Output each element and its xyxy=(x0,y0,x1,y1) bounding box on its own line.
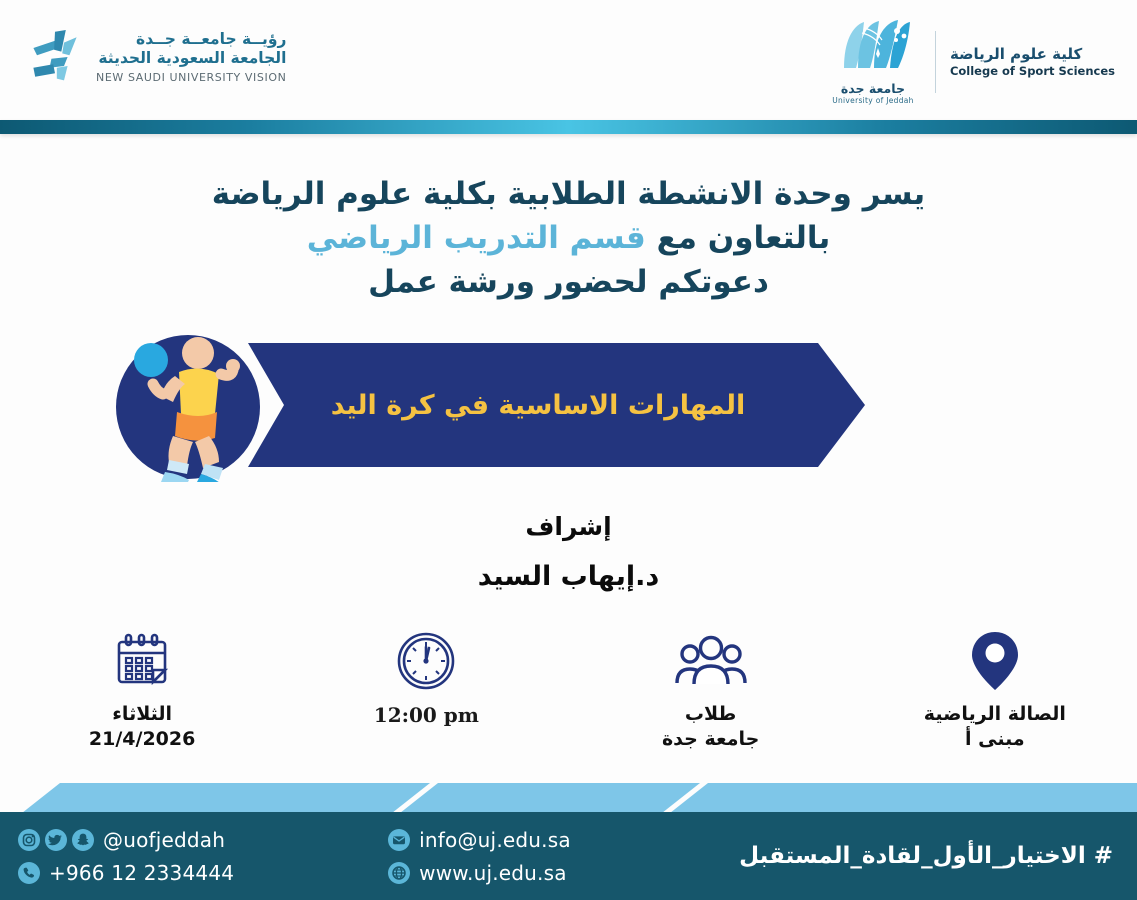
detail-item-time: 12:00 pm xyxy=(284,630,568,775)
footer-contact-column-2: info@uj.edu.sa www.uj.edu.sa xyxy=(388,828,571,885)
detail-item-audience: طلاب جامعة جدة xyxy=(569,630,853,775)
detail-item-location: الصالة الرياضية مبنى أ xyxy=(853,630,1137,775)
vision-arabic-line1: رؤيــة جامعــة جــدة xyxy=(96,30,286,49)
college-logo: كلية علوم الرياضة College of Sport Scien… xyxy=(825,18,1115,105)
calendar-icon xyxy=(113,630,171,692)
detail-time-text: 12:00 pm xyxy=(374,702,479,728)
banner-title-text: المهارات الاساسية في كرة اليد xyxy=(248,343,828,467)
heading-line-2: بالتعاون مع قسم التدريب الرياضي xyxy=(0,216,1137,260)
phone-icon[interactable] xyxy=(18,862,40,884)
footer-social-line[interactable]: @uofjeddah xyxy=(18,828,234,852)
date-numeric: 21/4/2026 xyxy=(89,727,195,752)
vision-swoosh-mark xyxy=(28,28,82,86)
heading-line-2-accent: قسم التدريب الرياضي xyxy=(307,220,646,256)
date-day-name: الثلاثاء xyxy=(112,703,172,725)
clock-icon xyxy=(396,630,456,692)
audience-line2: جامعة جدة xyxy=(662,728,759,750)
uj-arabic-name: جامعة جدة xyxy=(825,81,921,96)
college-english-name: College of Sport Sciences xyxy=(950,64,1115,80)
vision-arabic-line2: الجامعة السعودية الحديثة xyxy=(96,49,286,68)
heading-line-3: دعوتكم لحضور ورشة عمل xyxy=(0,260,1137,304)
vision-logo-text: رؤيــة جامعــة جــدة الجامعة السعودية ال… xyxy=(96,30,286,85)
footer-phone-line[interactable]: +966 12 2334444 xyxy=(18,861,234,885)
heading-line-2-prefix: بالتعاون مع xyxy=(646,220,830,256)
top-gradient-divider xyxy=(0,120,1137,134)
location-line2: مبنى أ xyxy=(965,728,1025,750)
supervisor-section: إشراف د.إيهاب السيد xyxy=(0,512,1137,592)
email-icon[interactable] xyxy=(388,829,410,851)
website-text: www.uj.edu.sa xyxy=(419,861,567,885)
twitter-icon[interactable] xyxy=(45,829,67,851)
poster-root: رؤيــة جامعــة جــدة الجامعة السعودية ال… xyxy=(0,0,1137,900)
detail-item-date: الثلاثاء 21/4/2026 xyxy=(0,630,284,775)
audience-people-icon xyxy=(673,630,749,692)
footer-email-line[interactable]: info@uj.edu.sa xyxy=(388,828,571,852)
uj-logo: جامعة جدة University of Jeddah xyxy=(825,18,921,105)
handball-player-illustration xyxy=(113,332,263,482)
location-line1: الصالة الرياضية xyxy=(924,703,1066,725)
heading-line-1: يسر وحدة الانشطة الطلابية بكلية علوم الر… xyxy=(0,172,1137,216)
detail-location-text: الصالة الرياضية مبنى أ xyxy=(924,702,1066,752)
poster-footer: @uofjeddah +966 12 2334444 xyxy=(0,812,1137,900)
detail-audience-text: طلاب جامعة جدة xyxy=(662,702,759,752)
vision-english-text: NEW SAUDI UNIVERSITY VISION xyxy=(96,71,286,85)
snapchat-icon[interactable] xyxy=(72,829,94,851)
social-handle-text: @uofjeddah xyxy=(103,828,225,852)
vision-logo: رؤيــة جامعــة جــدة الجامعة السعودية ال… xyxy=(28,28,286,86)
event-details-row: الصالة الرياضية مبنى أ طلاب جامعة جدة xyxy=(0,630,1137,775)
email-text: info@uj.edu.sa xyxy=(419,828,571,852)
uj-english-name: University of Jeddah xyxy=(825,96,921,105)
footer-hashtag: # الاختيار_الأول_لقادة_المستقبل xyxy=(739,812,1113,900)
footer-web-line[interactable]: www.uj.edu.sa xyxy=(388,861,571,885)
invitation-heading: يسر وحدة الانشطة الطلابية بكلية علوم الر… xyxy=(0,172,1137,304)
instagram-icon[interactable] xyxy=(18,829,40,851)
location-pin-icon xyxy=(970,630,1020,692)
supervisor-name: د.إيهاب السيد xyxy=(0,561,1137,592)
supervisor-label: إشراف xyxy=(0,512,1137,541)
footer-contact-column-1: @uofjeddah +966 12 2334444 xyxy=(18,828,234,885)
college-arabic-name: كلية علوم الرياضة xyxy=(950,44,1115,64)
detail-date-text: الثلاثاء 21/4/2026 xyxy=(89,702,195,752)
poster-header: رؤيــة جامعــة جــدة الجامعة السعودية ال… xyxy=(0,0,1137,118)
audience-line1: طلاب xyxy=(685,703,736,725)
logo-divider xyxy=(935,31,936,93)
social-icon-group xyxy=(18,829,94,851)
college-logo-text: كلية علوم الرياضة College of Sport Scien… xyxy=(950,44,1115,80)
phone-text: +966 12 2334444 xyxy=(49,861,234,885)
uj-leaf-mark xyxy=(834,18,912,76)
title-banner: المهارات الاساسية في كرة اليد xyxy=(0,330,1137,480)
globe-icon[interactable] xyxy=(388,862,410,884)
